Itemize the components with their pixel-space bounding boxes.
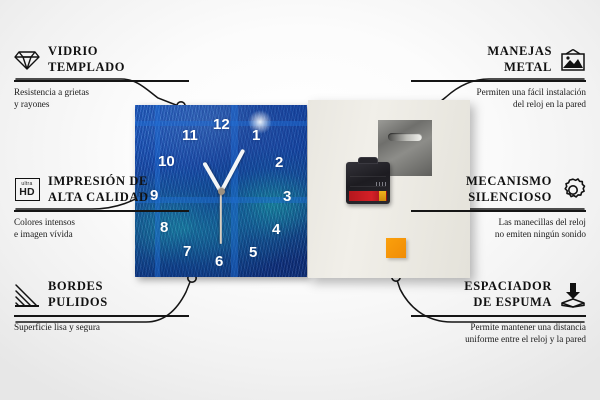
- mechanism-battery-label: [349, 191, 387, 201]
- feature-header: MECANISMO SILENCIOSO: [411, 174, 586, 205]
- mechanism-tab: [358, 157, 378, 164]
- gear-icon: [560, 177, 586, 203]
- feature-title: MANEJAS METAL: [411, 44, 552, 75]
- feature-espaciador-espuma: ESPACIADOR DE ESPUMA Permite mantener un…: [411, 279, 586, 345]
- mechanism-seam: [350, 186, 386, 187]
- feature-mecanismo-silencioso: MECANISMO SILENCIOSO Las manecillas del …: [411, 174, 586, 240]
- clock-numeral-5: 5: [249, 245, 257, 260]
- feature-title: BORDES PULIDOS: [48, 279, 189, 310]
- feature-description: Las manecillas del reloj no emiten ningú…: [411, 216, 586, 241]
- mechanism-label-dots: [376, 182, 386, 186]
- feature-header: ESPACIADOR DE ESPUMA: [411, 279, 586, 310]
- grid-line: [231, 105, 238, 277]
- feature-impresion-alta-calidad: ultra HD IMPRESIÓN DE ALTA CALIDAD Color…: [14, 174, 189, 240]
- clock-numeral-12: 12: [213, 117, 230, 132]
- feature-divider: [411, 210, 586, 211]
- clock-numeral-6: 6: [215, 254, 223, 269]
- feature-divider: [14, 210, 189, 211]
- second-hand: [220, 192, 222, 244]
- picture-frame-icon: [560, 47, 586, 73]
- arrow-down-onto-layers-icon: [560, 282, 586, 308]
- feature-header: BORDES PULIDOS: [14, 279, 189, 310]
- clock-numeral-3: 3: [283, 189, 291, 204]
- clock-numeral-2: 2: [275, 155, 283, 170]
- feature-divider: [411, 315, 586, 316]
- feature-header: MANEJAS METAL: [411, 44, 586, 75]
- mechanism-seam: [350, 176, 386, 177]
- feature-divider: [411, 80, 586, 81]
- orange-foam-spacer-part: [386, 238, 406, 258]
- feature-description: Resistencia a grietas y rayones: [14, 86, 189, 111]
- infographic-stage: 12 1 2 3 4 5 6 7 8 9 10 11: [0, 0, 600, 400]
- feature-divider: [14, 315, 189, 316]
- clock-numeral-1: 1: [252, 128, 260, 143]
- feature-title: VIDRIO TEMPLADO: [48, 44, 189, 75]
- quartz-mechanism-part: [346, 162, 390, 204]
- feature-title: MECANISMO SILENCIOSO: [411, 174, 552, 205]
- polished-edges-icon: [14, 282, 40, 308]
- feature-header: ultra HD IMPRESIÓN DE ALTA CALIDAD: [14, 174, 189, 205]
- feature-divider: [14, 80, 189, 81]
- hanger-slot: [388, 133, 422, 141]
- clock-numeral-4: 4: [272, 222, 280, 237]
- feature-header: VIDRIO TEMPLADO: [14, 44, 189, 75]
- feature-manejas-metal: MANEJAS METAL Permiten una fácil instala…: [411, 44, 586, 110]
- hd-badge: ultra HD: [15, 178, 40, 201]
- clock-numeral-7: 7: [183, 244, 191, 259]
- feature-description: Permite mantener una distancia uniforme …: [411, 321, 586, 346]
- feature-vidrio-templado: VIDRIO TEMPLADO Resistencia a grietas y …: [14, 44, 189, 110]
- hd-badge-hd: HD: [19, 187, 35, 198]
- clock-center-pin: [218, 188, 225, 195]
- feature-bordes-pulidos: BORDES PULIDOS Superficie lisa y segura: [14, 279, 189, 333]
- feature-description: Superficie lisa y segura: [14, 321, 189, 333]
- feature-description: Permiten una fácil instalación del reloj…: [411, 86, 586, 111]
- feature-title: IMPRESIÓN DE ALTA CALIDAD: [48, 174, 189, 205]
- feature-title: ESPACIADOR DE ESPUMA: [411, 279, 552, 310]
- clock-numeral-10: 10: [158, 154, 175, 169]
- feature-description: Colores intensos e imagen vívida: [14, 216, 189, 241]
- clock-numeral-11: 11: [182, 128, 198, 143]
- diamond-icon: [14, 47, 40, 73]
- ultra-hd-icon: ultra HD: [14, 177, 40, 203]
